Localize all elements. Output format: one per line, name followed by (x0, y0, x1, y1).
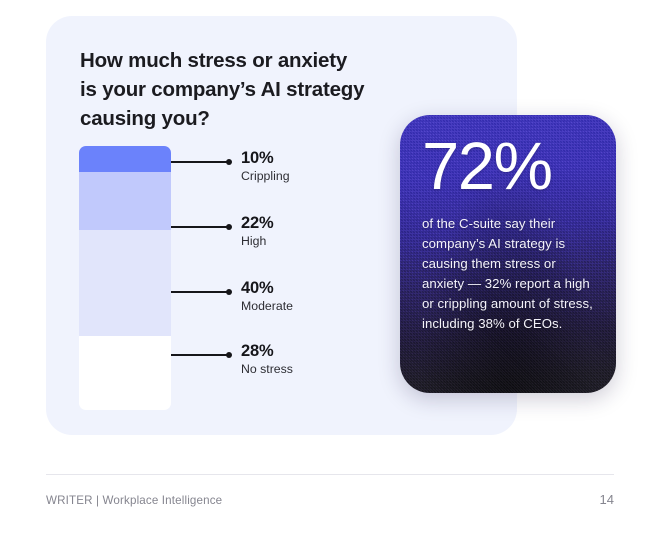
leader-dot-icon (226, 352, 232, 358)
callout-percent: 28% (241, 342, 273, 361)
callout-percent: 40% (241, 279, 273, 298)
callout-percent: 22% (241, 214, 273, 233)
page-title: How much stress or anxiety is your compa… (80, 46, 410, 133)
page-number: 14 (600, 492, 614, 507)
slide: How much stress or anxiety is your compa… (0, 0, 660, 535)
bar-segment-no-stress (79, 336, 171, 410)
callout-label: No stress (241, 362, 293, 376)
stat-card-content: 72% of the C-suite say their company’s A… (400, 115, 616, 334)
leader-line (171, 291, 228, 293)
leader-dot-icon (226, 224, 232, 230)
leader-dot-icon (226, 289, 232, 295)
stat-number: 72% (422, 133, 594, 200)
callout-percent: 10% (241, 149, 273, 168)
stat-description: of the C-suite say their company’s AI st… (422, 214, 594, 334)
callout-label: Moderate (241, 299, 293, 313)
leader-line (171, 226, 228, 228)
leader-line (171, 354, 228, 356)
callout-label: Crippling (241, 169, 290, 183)
footer-brand: WRITER | Workplace Intelligence (46, 494, 222, 507)
stat-card: 72% of the C-suite say their company’s A… (400, 115, 616, 393)
bar-segment-moderate (79, 230, 171, 336)
leader-dot-icon (226, 159, 232, 165)
footer-divider (46, 474, 614, 475)
stacked-bar-chart (79, 146, 171, 410)
bar-segment-crippling (79, 146, 171, 172)
callout-label: High (241, 234, 266, 248)
bar-segment-high (79, 172, 171, 230)
leader-line (171, 161, 228, 163)
